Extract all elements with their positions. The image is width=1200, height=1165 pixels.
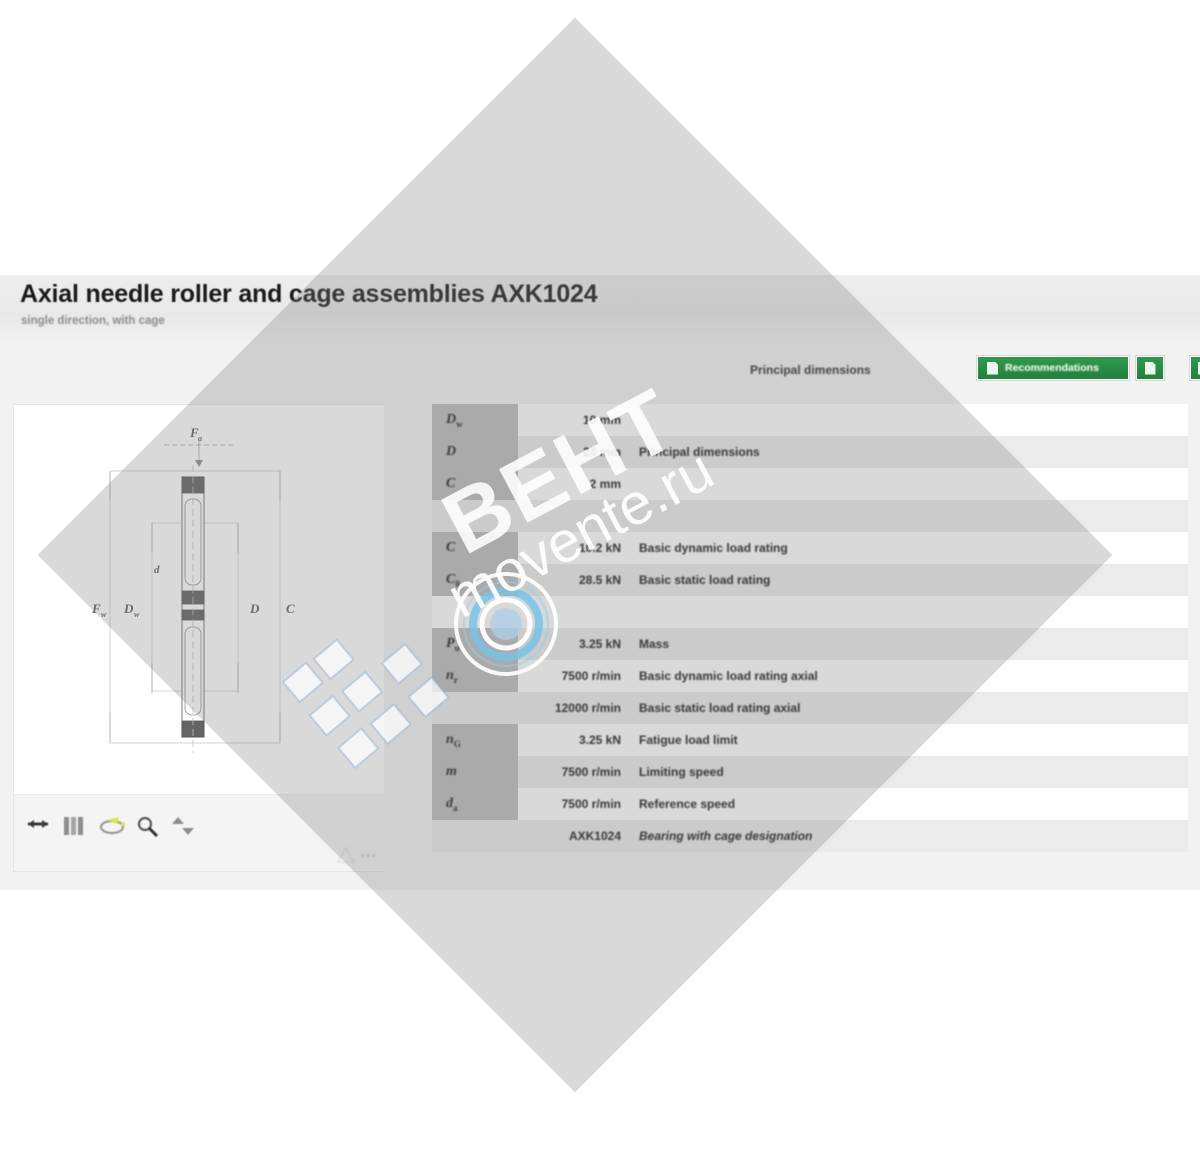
principal-dimensions-label: Principal dimensions	[750, 363, 871, 377]
symbol-label: m	[446, 764, 457, 780]
value-cell: 7500 r/min	[518, 765, 630, 779]
value-cell: AXK1024	[518, 829, 630, 843]
value-cell: 7500 r/min	[518, 669, 630, 683]
page-header: Axial needle roller and cage assemblies …	[0, 275, 1200, 347]
arrow-icon[interactable]	[26, 815, 52, 833]
svg-text:F: F	[91, 601, 101, 616]
table-row: Dw10 mm	[432, 404, 1188, 436]
symbol-label: C	[446, 540, 455, 556]
symbol-cell: nr	[432, 660, 518, 692]
print-button[interactable]	[1136, 356, 1164, 380]
recommendations-button[interactable]: Recommendations	[977, 356, 1129, 380]
drawing-panel[interactable]: Fa Fw Dw D C d	[13, 404, 383, 872]
drawing-corner-indicator: •••	[337, 847, 377, 863]
recommendations-button-label: Recommendations	[1005, 362, 1099, 374]
svg-text:w: w	[134, 610, 140, 619]
symbol-cell: D	[432, 436, 518, 468]
symbol-cell: C0	[432, 564, 518, 596]
zoom-icon[interactable]	[136, 815, 160, 837]
table-row: C2 mm	[432, 468, 1188, 500]
description-cell: Bearing with cage designation	[630, 829, 1188, 843]
symbol-subscript: a	[453, 802, 458, 812]
description-cell: Basic dynamic load rating axial	[630, 669, 1188, 683]
table-row: nr7500 r/minBasic dynamic load rating ax…	[432, 660, 1188, 692]
symbol-cell	[432, 820, 518, 852]
symbol-label: C0	[446, 572, 460, 589]
rotate-icon[interactable]	[99, 815, 127, 837]
symbol-subscript: w	[456, 418, 463, 428]
table-row: C028.5 kNBasic static load rating	[432, 564, 1188, 596]
value-cell: 10.2 kN	[518, 541, 630, 555]
value-cell: 10 mm	[518, 413, 630, 427]
table-row: 12000 r/minBasic static load rating axia…	[432, 692, 1188, 724]
value-cell: 12000 r/min	[518, 701, 630, 715]
value-cell: 24 mm	[518, 445, 630, 459]
svg-text:D: D	[249, 601, 260, 616]
symbol-cell: C	[432, 532, 518, 564]
product-page-card: Axial needle roller and cage assemblies …	[0, 275, 1200, 890]
description-cell: Limiting speed	[630, 765, 1188, 779]
ruler-icon[interactable]	[61, 815, 87, 837]
table-row: m7500 r/minLimiting speed	[432, 756, 1188, 788]
svg-text:D: D	[123, 601, 134, 616]
value-cell: 3.25 kN	[518, 733, 630, 747]
description-cell: Basic static load rating	[630, 573, 1188, 587]
symbol-label: da	[446, 796, 458, 813]
symbol-label: nr	[446, 668, 458, 685]
page-title: Axial needle roller and cage assemblies …	[20, 280, 597, 309]
symbol-subscript: G	[454, 738, 461, 748]
symbol-cell: da	[432, 788, 518, 820]
value-cell: 7500 r/min	[518, 797, 630, 811]
symbol-label: nG	[446, 732, 461, 749]
document-icon	[987, 362, 998, 375]
drawing-icon-strip: •••	[14, 794, 384, 871]
bearing-drawing: Fa Fw Dw D C d	[14, 405, 384, 797]
svg-text:w: w	[101, 610, 107, 619]
table-row: nG3.25 kNFatigue load limit	[432, 724, 1188, 756]
table-row: AXK1024Bearing with cage designation	[432, 820, 1188, 852]
symbol-cell: Pu	[432, 628, 518, 660]
symbol-subscript: 0	[455, 578, 460, 588]
table-row	[432, 596, 1188, 628]
symbol-cell	[432, 692, 518, 724]
svg-text:a: a	[198, 434, 202, 443]
value-cell: 28.5 kN	[518, 573, 630, 587]
symbol-subscript: u	[455, 642, 460, 652]
symbol-cell	[432, 500, 518, 532]
symbol-subscript: r	[454, 674, 458, 684]
svg-text:C: C	[286, 601, 295, 616]
table-row: Pu3.25 kNMass	[432, 628, 1188, 660]
description-cell: Fatigue load limit	[630, 733, 1188, 747]
symbol-label: C	[446, 476, 455, 492]
symbol-cell	[432, 596, 518, 628]
description-cell: Mass	[630, 637, 1188, 651]
svg-text:d: d	[154, 564, 160, 576]
symbol-label: Dw	[446, 412, 463, 429]
description-cell: Basic static load rating axial	[630, 701, 1188, 715]
table-row: da7500 r/minReference speed	[432, 788, 1188, 820]
value-cell: 2 mm	[518, 477, 630, 491]
symbol-cell: C	[432, 468, 518, 500]
bearing-cross-section-svg: Fa Fw Dw D C d	[14, 405, 384, 797]
caution-icon	[337, 847, 355, 863]
table-row	[432, 500, 1188, 532]
page-subtitle: single direction, with cage	[21, 315, 165, 327]
bearing-data-table: Dw10 mmD24 mmPrincipal dimensionsC2 mmC1…	[432, 404, 1188, 872]
print-icon	[1145, 362, 1156, 375]
corner-dots: •••	[360, 848, 377, 863]
description-cell: Reference speed	[630, 797, 1188, 811]
value-cell: 3.25 kN	[518, 637, 630, 651]
fullscreen-icon[interactable]	[169, 815, 195, 837]
symbol-cell: m	[432, 756, 518, 788]
toolbar: Principal dimensions Recommendations	[0, 347, 1200, 397]
table-row: D24 mmPrincipal dimensions	[432, 436, 1188, 468]
symbol-cell: nG	[432, 724, 518, 756]
symbol-label: Pu	[446, 636, 460, 653]
page-button[interactable]	[1190, 356, 1200, 380]
description-cell: Basic dynamic load rating	[630, 541, 1188, 555]
table-row: C10.2 kNBasic dynamic load rating	[432, 532, 1188, 564]
description-cell: Principal dimensions	[630, 445, 1188, 459]
symbol-cell: Dw	[432, 404, 518, 436]
symbol-label: D	[446, 444, 456, 460]
